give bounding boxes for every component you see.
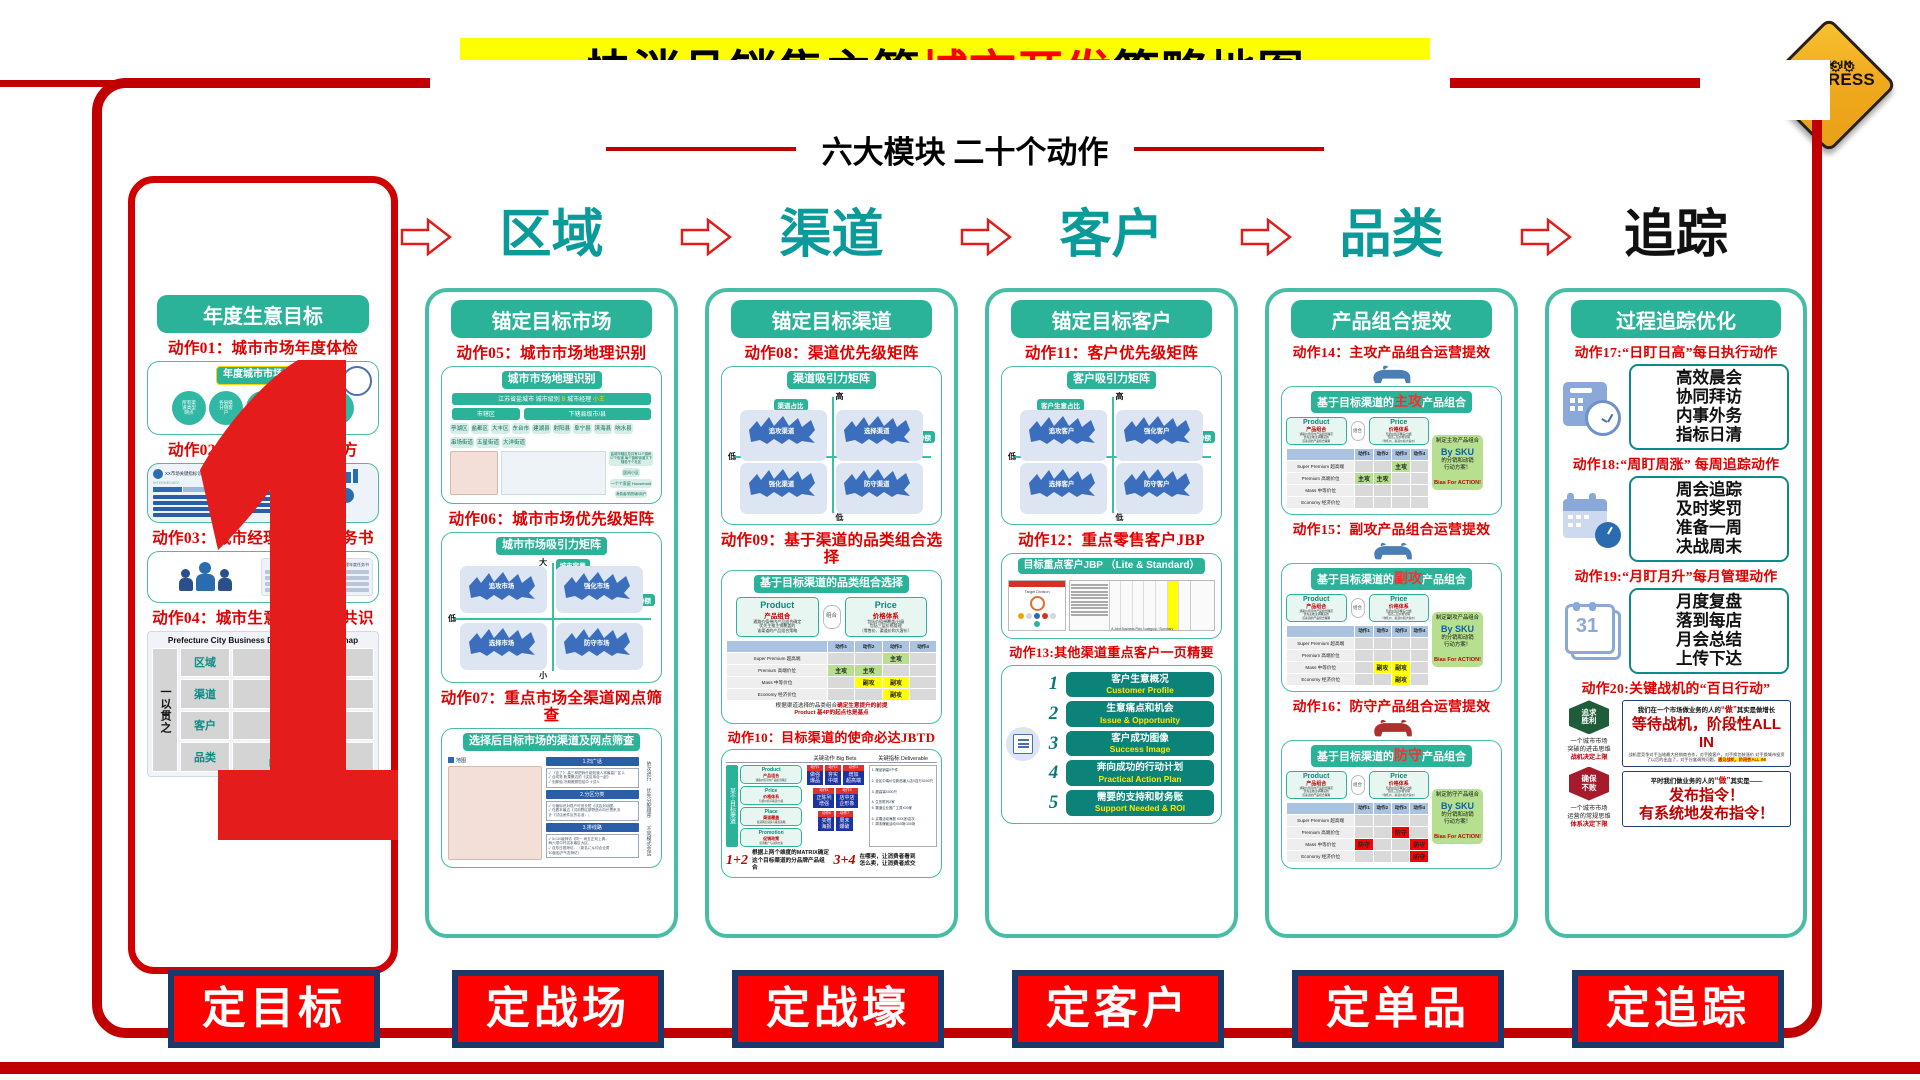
attractiveness-matrix: 大 低 小 城市容量 公司份额 追攻市场 强化市场 选择市场 防守市场: [448, 559, 655, 677]
panel-title-zhugong: 基于目标渠道的主攻产品组合: [1311, 391, 1472, 413]
flow-header-5: 追踪: [1545, 200, 1807, 270]
action-07-thumb: 选择后目标市场的渠道及网点筛查 地图 1.扫广话 ✓ 《百了》 高三种把我什能知…: [441, 728, 662, 868]
action-16-label: 动作16：防守产品组合运营提效: [1277, 699, 1506, 714]
badge-caption-1: 一个城市市场突破的进击思维战机决定上限: [1567, 738, 1610, 762]
team-icon: [153, 562, 257, 591]
zhugong-grid: 动作1动作2动作3动作4 Super Premium 超高端主攻 Premium…: [1286, 448, 1429, 509]
action-10-label: 动作10：目标渠道的使命必达JBTD: [717, 731, 946, 745]
flow-header-4: 品类: [1265, 200, 1518, 270]
action-04-label: 动作04：城市生意发展路径共识: [143, 610, 383, 627]
module-title-0: 年度生意目标: [157, 295, 368, 333]
list-item: 4奔向成功的行动计划Practical Action Plan: [1043, 758, 1217, 788]
bull-icon: [1277, 364, 1506, 386]
customer-matrix: 高 低 低 客户生意占比 公司份额 追攻客户 强化客户 选择客户 防守客户: [1008, 393, 1215, 519]
action-16-thumb: 基于目标渠道的防守产品组合 Product产品组合通路价值带内产品组合确定优先主…: [1281, 740, 1502, 869]
product-price-grid: 动作1动作2动作3动作4 Super Premium 超高端主攻 Premium…: [726, 640, 937, 701]
action-11-thumb: 客户吸引力矩阵 高 低 低 客户生意占比 公司份额 追攻客户 强化客户 选择客户…: [1001, 366, 1222, 525]
action-20-label: 动作20:关键战机的“百日行动”: [1557, 681, 1795, 696]
footer-button-1[interactable]: 定战场: [452, 970, 664, 1048]
report-doc-icon: [1006, 727, 1040, 761]
action-09-thumb: 基于目标渠道的品类组合选择 Product 产品组合 通路价值带内产品组合确定优…: [721, 570, 942, 724]
footer-button-3[interactable]: 定客户: [1012, 970, 1224, 1048]
roadmap-row: 区域每个区域/城市的主攻战场: [180, 648, 374, 678]
panel-title-fangshou: 基于目标渠道的防守产品组合: [1311, 745, 1472, 767]
action-18-card: 周会追踪及时奖罚 准备一周决战周末: [1563, 476, 1789, 562]
sku-callout-fangshou: 制定防守产品组合By SKU的分销和动销行动方案！Bias For ACTION…: [1432, 789, 1483, 844]
list-item: 2生意痛点和机会Issue & Opportunity: [1043, 699, 1217, 729]
sku-callout-fugong: 制定副攻产品组合By SKU的分销和动销行动方案！Bias For ACTION…: [1432, 612, 1483, 667]
module-title-5: 过程追踪优化: [1571, 300, 1780, 338]
roadmap-title: Prefecture City Business Development Roa…: [152, 636, 374, 645]
list-item: 3客户成功图像Success Image: [1043, 729, 1217, 759]
action-17-lines: 高效晨会协同拜访 内事外务指标日清: [1629, 364, 1789, 450]
column-region: 锚定目标市场 动作05：城市市场地理识别 城市市场地理识别 江苏省盐城市 城市级…: [425, 288, 678, 938]
panel-title-fugong: 基于目标渠道的副攻产品组合: [1311, 568, 1472, 590]
channel-matrix: 高 低 低 渠道占比 公司份额 追攻渠道 选择渠道 强化渠道 防守渠道: [728, 393, 935, 519]
badge-caption-2: 一个城市市场运营的常规思维体系决定下限: [1567, 805, 1610, 829]
module-title-3: 锚定目标客户: [1011, 300, 1213, 338]
bottom-rule: [0, 1062, 1920, 1074]
action-09-label: 动作09：基于渠道的品类组合选择: [717, 532, 946, 566]
badge-pursue-victory: 追求胜利: [1569, 700, 1609, 734]
column-goal: 年度生意目标 动作01：城市市场年度体检 年度城市市场体检 所有渠道类型网点 各…: [128, 176, 398, 974]
action-11-label: 动作11：客户优先级矩阵: [997, 345, 1226, 362]
action-12-label: 动作12：重点零售客户JBP: [997, 532, 1226, 549]
bear-icon: [1277, 541, 1506, 563]
action-14-thumb: 基于目标渠道的主攻产品组合 Product产品组合通路价值带内产品组合确定优先主…: [1281, 386, 1502, 515]
action-02-label: 动作02：城市市场年度处方: [143, 442, 383, 459]
action-19-card: 31 月度复盘落到每店 月会总结上传下达: [1563, 588, 1789, 674]
action-18-label: 动作18:“周盯周涨” 每周追踪动作: [1557, 457, 1795, 472]
action-03-label: 动作03：城市经理的年度任务书: [143, 530, 383, 547]
calendar-clock-icon: [1563, 378, 1621, 436]
module-title-4: 产品组合提效: [1291, 300, 1493, 338]
roadmap-row: 渠道每个主攻战场的渠道策略打法: [180, 679, 374, 709]
list-item: 5需要的支持和财务账Support Needed & ROI: [1043, 788, 1217, 818]
action-19-label: 动作19:“月盯月升”每月管理动作: [1557, 569, 1795, 584]
action-06-label: 动作06：城市市场优先级矩阵: [437, 511, 666, 528]
chart-magnifier-icon: [342, 366, 372, 396]
action-02-thumb: XX市场关键指标诊断 INTERMEDIATE XX市场关键指标 BASIC: [147, 463, 379, 523]
dashboard-icon: [339, 469, 373, 517]
action-20-block: 追求胜利 一个城市市场突破的进击思维战机决定上限 确保不败 一个城市市场运营的常…: [1561, 700, 1791, 828]
column-customer: 锚定目标客户 动作11：客户优先级矩阵 客户吸引力矩阵 高 低 低 客户生意占比…: [985, 288, 1238, 938]
action-15-thumb: 基于目标渠道的副攻产品组合 Product产品组合通路价值带内产品组合确定优先主…: [1281, 563, 1502, 692]
badge-ensure-no-defeat: 确保不败: [1569, 767, 1609, 801]
action-15-label: 动作15：副攻产品组合运营提效: [1277, 522, 1506, 537]
action-17-label: 动作17:“日盯日高”每日执行动作: [1557, 345, 1795, 360]
action-08-label: 动作08：渠道优先级矩阵: [717, 345, 946, 362]
action-13-label: 动作13:其他渠道重点客户一页精要: [997, 646, 1226, 660]
fangshou-grid: 动作1动作2动作3动作4 Super Premium 超高端 Premium 高…: [1286, 802, 1429, 863]
frame-gap-top: [430, 60, 1450, 130]
flow-header-2: 渠道: [705, 200, 958, 270]
action-20-box-2: 平时我们做业务的人的“做”其实是—— 发布指令！ 有系统地发布指令！: [1622, 771, 1791, 828]
roadmap-row: 客户每个重点渠道的重点客户运营: [180, 711, 374, 741]
action-05-thumb: 城市市场地理识别 江苏省盐城市 城市级别 B 城市经理 小王 市辖区下辖县级市/…: [441, 366, 662, 504]
action-03-thumb: 城市经理年度任务书: [147, 551, 379, 603]
bear-red-icon: [1277, 718, 1506, 740]
footer-button-5[interactable]: 定追踪: [1572, 970, 1784, 1048]
list-item: 1客户生意概况Customer Profile: [1043, 670, 1217, 700]
action-18-lines: 周会追踪及时奖罚 准备一周决战周末: [1629, 476, 1789, 562]
action-14-label: 动作14：主攻产品组合运营提效: [1277, 345, 1506, 360]
combine-label: 组合: [823, 605, 841, 629]
footer-button-2[interactable]: 定战壕: [732, 970, 944, 1048]
column-category: 产品组合提效 动作14：主攻产品组合运营提效 基于目标渠道的主攻产品组合 Pro…: [1265, 288, 1518, 938]
action-13-thumb: 1客户生意概况Customer Profile 2生意痛点和机会Issue & …: [1001, 665, 1222, 824]
action-10-thumb: 关键动作 Big Bets 关键指标 Deliverable 某个目标渠道 Pr…: [721, 749, 942, 878]
footer-button-0[interactable]: 定目标: [168, 970, 380, 1048]
column-channel: 锚定目标渠道 动作08：渠道优先级矩阵 渠道吸引力矩阵 高 低 低 渠道占比 公…: [705, 288, 958, 938]
calendar-week-icon: [1563, 490, 1621, 548]
roadmap-row: 品类每个重点渠道的重点品类/单品: [180, 742, 374, 772]
flow-header-1: 区域: [425, 200, 678, 270]
action-01-thumb: 年度城市市场体检 所有渠道类型网点 各层级分销客户 各个村镇终端网点 各类连锁系…: [147, 361, 379, 435]
action-07-label: 动作07：重点市场全渠道网点筛查: [437, 690, 666, 724]
action-05-label: 动作05：城市市场地理识别: [437, 345, 666, 362]
module-title-1: 锚定目标市场: [451, 300, 653, 338]
module-title-2: 锚定目标渠道: [731, 300, 933, 338]
calendar-31-icon: 31: [1563, 602, 1621, 660]
action-20-box-1: 我们在一个市场做业务的人的“做”其实是做增长 等待战机，阶段性ALL IN 战机…: [1622, 700, 1791, 766]
sku-callout-zhugong: 制定主攻产品组合By SKU的分销和动销行动方案！Bias For ACTION…: [1432, 435, 1483, 490]
action-08-thumb: 渠道吸引力矩阵 高 低 低 渠道占比 公司份额 追攻渠道 选择渠道 强化渠道 防…: [721, 366, 942, 525]
action-06-thumb: 城市市场吸引力矩阵 大 低 小 城市容量 公司份额 追攻市场 强化市场 选择市场…: [441, 532, 662, 683]
infographic-root: 快消品销售主管城市开发策略地图 六大模块 二十个动作 ⚙⚙ WORK IN PR…: [0, 0, 1920, 1080]
column-tracking: 过程追踪优化 动作17:“日盯日高”每日执行动作 高效晨会协同拜访 内事外务指标: [1545, 288, 1807, 938]
roadmap-table: Prefecture City Business Development Roa…: [147, 631, 379, 777]
roadmap-left-label: 一以贯之: [152, 648, 178, 772]
frame-gap-top-right: [1700, 60, 1830, 120]
fugong-grid: 动作1动作2动作3动作4 Super Premium 超高端 Premium 高…: [1286, 625, 1429, 686]
flow-header-3: 客户: [985, 200, 1238, 270]
action-19-lines: 月度复盘落到每店 月会总结上传下达: [1629, 588, 1789, 674]
price-box: Price 价格体系 包括价值带覆盖/分级包括三层价格管理（零售价、渠道价和大客…: [845, 597, 928, 637]
footer-button-4[interactable]: 定单品: [1292, 970, 1504, 1048]
product-box: Product 产品组合 通路价值带内产品组合确定优先主推主销覆盖的该渠道的产品…: [736, 597, 819, 637]
action-01-label: 动作01：城市市场年度体检: [143, 340, 383, 357]
action-12-thumb: 目标重点客户JBP （Lite & Standard） Target Divis…: [1001, 553, 1222, 640]
action-17-card: 高效晨会协同拜访 内事外务指标日清: [1563, 364, 1789, 450]
